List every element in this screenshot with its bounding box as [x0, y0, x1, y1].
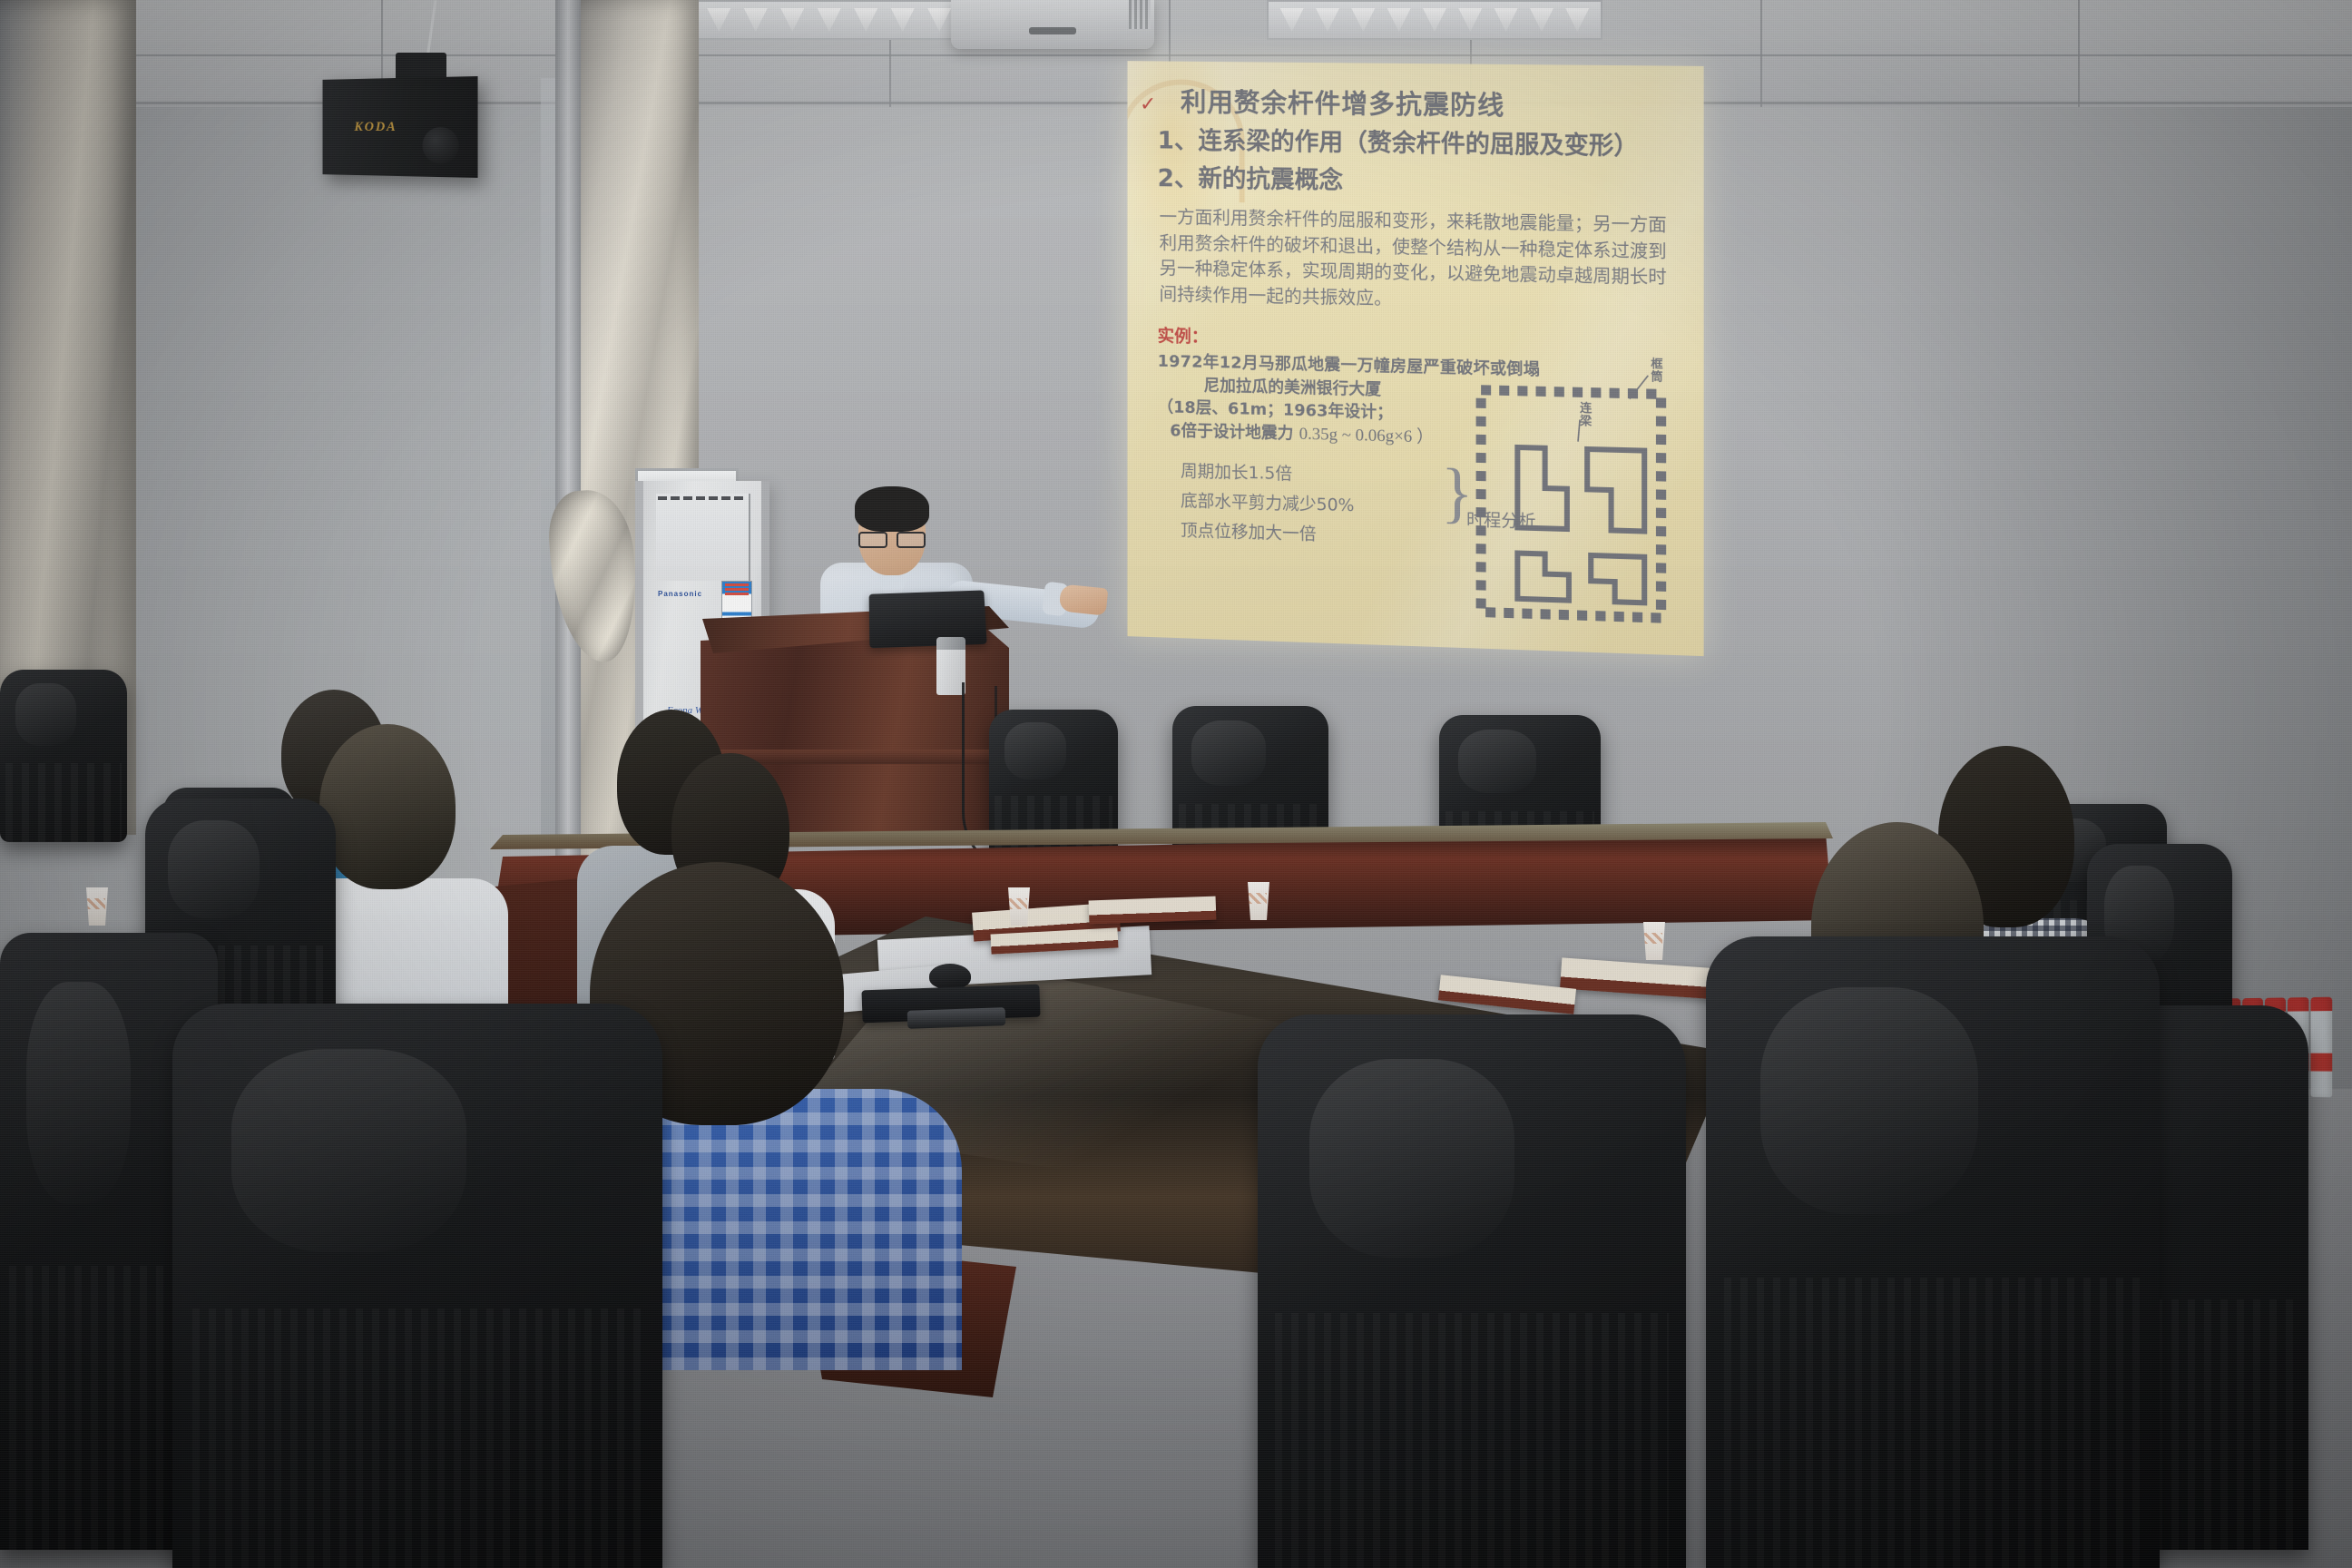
foreground-chair-center-left[interactable] [172, 1004, 662, 1568]
louver-cell [707, 8, 730, 32]
louver-cell [891, 8, 915, 32]
speaker-driver-icon [422, 127, 458, 164]
louver-cell [854, 8, 877, 32]
louver-cell [1494, 8, 1518, 32]
attendee-head [319, 724, 456, 889]
presenter-glasses [858, 532, 926, 544]
podium-laptop [869, 590, 987, 648]
check-icon: ✓ [1140, 93, 1156, 116]
louver-cell [1458, 8, 1482, 32]
projected-slide: ✓ 利用赘余杆件增多抗震防线 1、连系梁的作用（赘余杆件的屈服及变形） 2、新的… [1127, 61, 1703, 656]
slide-bullet-2: 2、新的抗震概念 [1158, 163, 1680, 201]
empty-chair-back-1[interactable] [989, 710, 1118, 869]
louver-cell [1423, 8, 1446, 32]
louver-cell [744, 8, 768, 32]
projector-vent [1129, 0, 1151, 29]
ac-brand-label: Panasonic [658, 590, 702, 598]
empty-chair-left-far[interactable] [0, 670, 127, 842]
slide-bullet-1: 1、连系梁的作用（赘余杆件的屈服及变形） [1158, 126, 1680, 163]
leader-line-outer [1630, 375, 1648, 399]
slide-example-line-4: 6倍于设计地震力 [1170, 421, 1293, 443]
speaker-brand-label: KODA [354, 120, 397, 135]
presenter-hair [855, 486, 929, 532]
projector-lens [1029, 27, 1076, 34]
louver-cell [1565, 8, 1589, 32]
notebook [1089, 897, 1217, 925]
ceiling-light-fixture-right [1267, 0, 1602, 40]
louver-cell [818, 8, 841, 32]
slide-paragraph: 一方面利用赘余杆件的屈服和变形，来耗散地震能量；另一方面利用赘余杆件的破坏和退出… [1160, 204, 1680, 317]
core-wall-upper-left [1517, 447, 1567, 529]
diagram-label-inner: 连梁 [1576, 401, 1593, 427]
foreground-chair-center-right[interactable] [1258, 1014, 1686, 1568]
ac-front-panel [656, 494, 750, 581]
louver-cell [1280, 8, 1304, 32]
slide-formula: 0.35g ~ 0.06g×6 ） [1299, 424, 1434, 446]
louver-cell [780, 8, 804, 32]
slide-title: 利用赘余杆件增多抗震防线 [1181, 88, 1680, 122]
wall-speaker: KODA [323, 76, 478, 178]
core-wall-lower-right [1591, 555, 1644, 603]
louver-cell [1530, 8, 1553, 32]
louver-cell [1387, 8, 1411, 32]
water-bottle [2310, 997, 2332, 1098]
core-wall-upper-right [1587, 449, 1644, 532]
diagram-label-outer: 框筒 [1647, 358, 1664, 384]
presenter-hand [1059, 583, 1109, 615]
ceiling-projector [951, 0, 1154, 49]
louver-cell [1351, 8, 1375, 32]
foreground-chair-right[interactable] [1706, 936, 2160, 1568]
louver-cell [1316, 8, 1339, 32]
slide-structure-diagram: 框筒 连梁 [1468, 358, 1685, 639]
core-wall-lower-left [1517, 554, 1569, 601]
louver-cell [927, 8, 951, 32]
meeting-room-photo: KODA ✓ 利用赘余杆件增多抗震防线 1、连系梁的作用（赘余杆件的屈服及变形）… [0, 0, 2352, 1568]
